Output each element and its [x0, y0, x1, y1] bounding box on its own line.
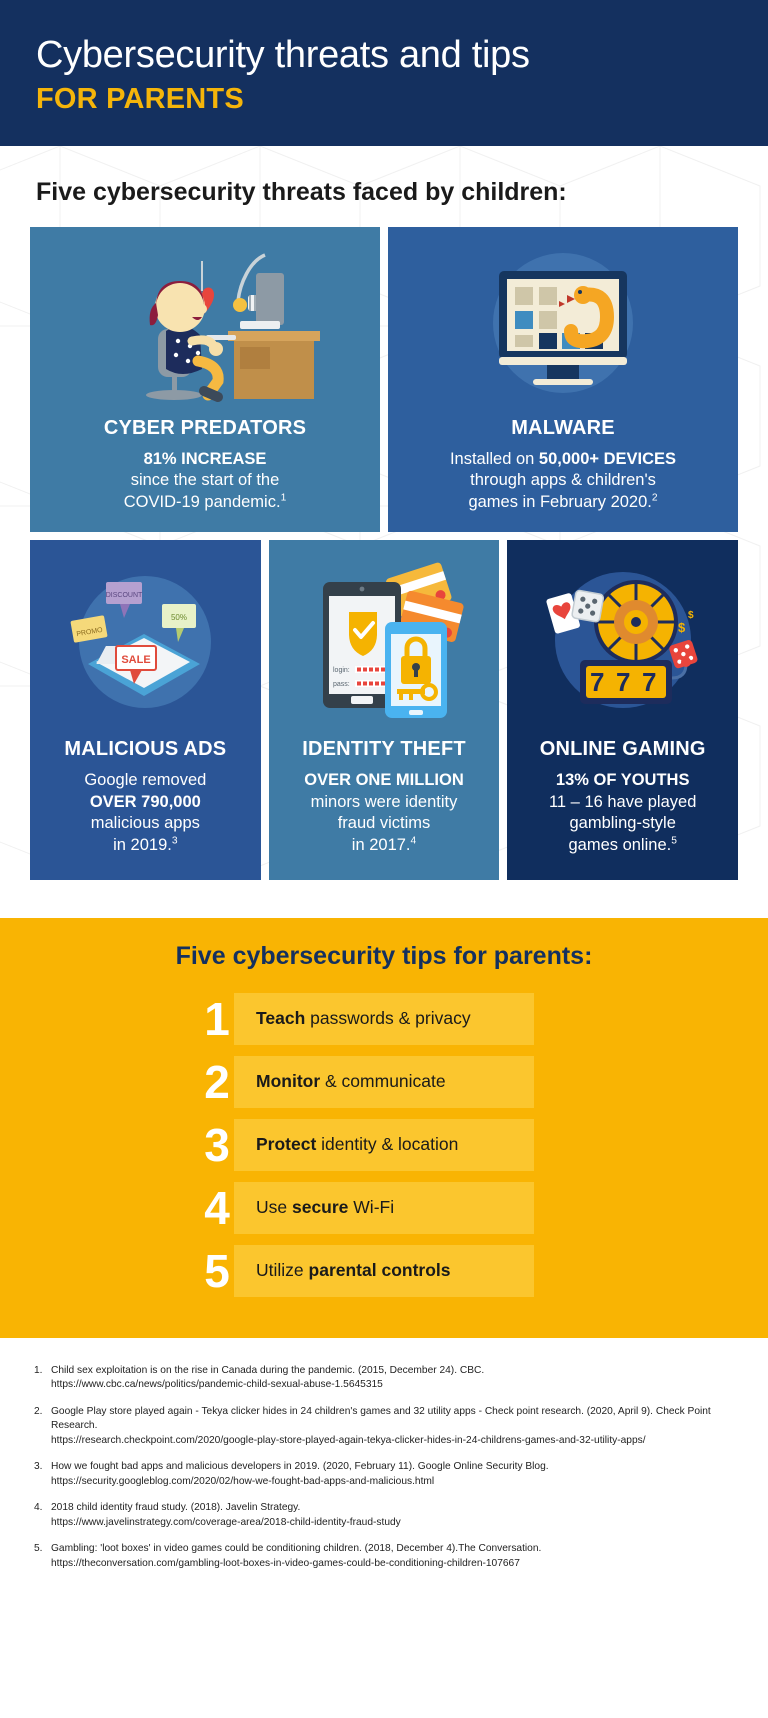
- phone-login-shield-credit-cards-icon: login: pass:: [279, 554, 490, 732]
- tips-section: Five cybersecurity tips for parents: 1 T…: [0, 918, 768, 1338]
- card-line-2: since the start of the: [131, 471, 280, 489]
- card-body: OVER ONE MILLION minors were identity fr…: [279, 770, 490, 857]
- card-line-3: games in February 2020.: [468, 493, 651, 511]
- svg-text:7: 7: [642, 667, 656, 697]
- tip-keyword: Monitor: [256, 1071, 320, 1091]
- tip-pre: Use: [256, 1197, 292, 1217]
- card-stat: 13% OF YOUTHS: [556, 771, 690, 789]
- footnote-ref: 4: [411, 836, 417, 847]
- footnote-item: 2. Google Play store played again - Teky…: [34, 1405, 734, 1448]
- tip-number: 1: [200, 996, 234, 1042]
- tip-number: 2: [200, 1059, 234, 1105]
- footnote-item: 3. How we fought bad apps and malicious …: [34, 1460, 734, 1489]
- tip-number: 4: [200, 1185, 234, 1231]
- footnote-number: 4.: [34, 1501, 51, 1530]
- card-title: CYBER PREDATORS: [40, 417, 370, 440]
- footnote-body: Google Play store played again - Tekya c…: [51, 1405, 734, 1448]
- tip-keyword: Protect: [256, 1134, 316, 1154]
- footnote-url[interactable]: https://www.javelinstrategy.com/coverage…: [51, 1516, 734, 1530]
- tip-rest: passwords & privacy: [305, 1008, 470, 1028]
- tip-item-4[interactable]: 4 Use secure Wi-Fi: [234, 1182, 534, 1234]
- card-body: Installed on 50,000+ DEVICES through app…: [398, 449, 728, 514]
- footnote-url[interactable]: https://theconversation.com/gambling-loo…: [51, 1557, 734, 1571]
- card-body: 13% OF YOUTHS 11 – 16 have played gambli…: [517, 770, 728, 857]
- tip-text: Protect identity & location: [256, 1134, 458, 1155]
- page-header: Cybersecurity threats and tips FOR PAREN…: [0, 0, 768, 146]
- footnotes-section: 1. Child sex exploitation is on the rise…: [0, 1338, 768, 1603]
- card-line-1: Google removed: [84, 771, 206, 789]
- card-line-3: fraud victims: [338, 814, 431, 832]
- infographic-page: Cybersecurity threats and tips FOR PAREN…: [0, 0, 768, 1718]
- card-line-3: COVID-19 pandemic.: [124, 493, 281, 511]
- tip-keyword: secure: [292, 1197, 348, 1217]
- card-line-4: in 2019.: [113, 836, 172, 854]
- svg-text:$: $: [678, 620, 686, 635]
- tip-bar: Monitor & communicate: [234, 1056, 534, 1108]
- tip-bar: Use secure Wi-Fi: [234, 1182, 534, 1234]
- girl-at-computer-with-fishing-hook-icon: [40, 241, 370, 411]
- svg-text:$: $: [688, 610, 694, 621]
- footnote-item: 4. 2018 child identity fraud study. (201…: [34, 1501, 734, 1530]
- tip-keyword: Teach: [256, 1008, 305, 1028]
- footnote-ref: 1: [281, 493, 287, 504]
- tip-rest: identity & location: [316, 1134, 458, 1154]
- slot-machine-dice-cards-icon: $ $ 7 7 7: [517, 554, 728, 732]
- tip-bar: Teach passwords & privacy: [234, 993, 534, 1045]
- tip-keyword: parental controls: [309, 1260, 451, 1280]
- footnote-text: How we fought bad apps and malicious dev…: [51, 1461, 549, 1472]
- tablet-with-sale-ads-icon: DISCOUNT PROMO 50%: [40, 554, 251, 732]
- footnote-number: 2.: [34, 1405, 51, 1448]
- footnote-text: 2018 child identity fraud study. (2018).…: [51, 1502, 300, 1513]
- tip-text: Monitor & communicate: [256, 1071, 446, 1092]
- tip-pre: Utilize: [256, 1260, 309, 1280]
- footnote-url[interactable]: https://www.cbc.ca/news/politics/pandemi…: [51, 1378, 734, 1392]
- threat-cards-row-1: CYBER PREDATORS 81% INCREASE since the s…: [30, 227, 738, 532]
- footnote-url[interactable]: https://research.checkpoint.com/2020/goo…: [51, 1434, 734, 1448]
- card-line-2: through apps & children's: [470, 471, 656, 489]
- svg-text:7: 7: [616, 667, 630, 697]
- footnote-body: Gambling: 'loot boxes' in video games co…: [51, 1542, 734, 1571]
- page-subtitle: FOR PARENTS: [36, 83, 732, 116]
- tips-heading: Five cybersecurity tips for parents:: [0, 942, 768, 971]
- card-body: 81% INCREASE since the start of the COVI…: [40, 449, 370, 514]
- card-line-3: gambling-style: [569, 814, 675, 832]
- tip-item-2[interactable]: 2 Monitor & communicate: [234, 1056, 534, 1108]
- footnote-item: 5. Gambling: 'loot boxes' in video games…: [34, 1542, 734, 1571]
- tip-item-3[interactable]: 3 Protect identity & location: [234, 1119, 534, 1171]
- tip-bar: Utilize parental controls: [234, 1245, 534, 1297]
- tip-item-1[interactable]: 1 Teach passwords & privacy: [234, 993, 534, 1045]
- threat-cards-row-2: DISCOUNT PROMO 50%: [30, 540, 738, 880]
- svg-text:DISCOUNT: DISCOUNT: [106, 592, 143, 599]
- card-line-3: malicious apps: [91, 814, 200, 832]
- monitor-with-worm-icon: [398, 241, 728, 411]
- threat-card-online-gaming: $ $ 7 7 7 ONLI: [507, 540, 738, 880]
- footnote-ref: 2: [652, 493, 658, 504]
- tip-bar: Protect identity & location: [234, 1119, 534, 1171]
- svg-text:SALE: SALE: [122, 654, 151, 666]
- card-title: ONLINE GAMING: [517, 738, 728, 761]
- footnote-url[interactable]: https://security.googleblog.com/2020/02/…: [51, 1475, 734, 1489]
- footnote-body: How we fought bad apps and malicious dev…: [51, 1460, 734, 1489]
- svg-text:login:: login:: [333, 667, 350, 674]
- card-body: Google removed OVER 790,000 malicious ap…: [40, 770, 251, 857]
- footnote-item: 1. Child sex exploitation is on the rise…: [34, 1364, 734, 1393]
- tip-number: 3: [200, 1122, 234, 1168]
- card-title: MALWARE: [398, 417, 728, 440]
- footnote-number: 1.: [34, 1364, 51, 1393]
- card-title: MALICIOUS ADS: [40, 738, 251, 761]
- threat-card-identity-theft: login: pass:: [269, 540, 500, 880]
- tip-rest: Wi-Fi: [348, 1197, 394, 1217]
- footnote-ref: 5: [671, 836, 677, 847]
- card-stat: 81% INCREASE: [144, 450, 267, 468]
- footnote-number: 5.: [34, 1542, 51, 1571]
- footnote-body: 2018 child identity fraud study. (2018).…: [51, 1501, 734, 1530]
- threat-card-malicious-ads: DISCOUNT PROMO 50%: [30, 540, 261, 880]
- svg-text:7: 7: [590, 667, 604, 697]
- tip-text: Utilize parental controls: [256, 1260, 451, 1281]
- card-line-2: minors were identity: [311, 793, 458, 811]
- threat-card-malware: MALWARE Installed on 50,000+ DEVICES thr…: [388, 227, 738, 532]
- footnote-text: Google Play store played again - Tekya c…: [51, 1406, 711, 1431]
- footnote-body: Child sex exploitation is on the rise in…: [51, 1364, 734, 1393]
- card-stat: OVER ONE MILLION: [304, 771, 464, 789]
- card-line-1: Installed on 50,000+ DEVICES: [450, 450, 676, 468]
- card-line-4: in 2017.: [352, 836, 411, 854]
- card-line-4: games online.: [568, 836, 671, 854]
- tip-item-5[interactable]: 5 Utilize parental controls: [234, 1245, 534, 1297]
- svg-text:pass:: pass:: [333, 681, 350, 688]
- svg-text:50%: 50%: [171, 613, 187, 622]
- footnote-text: Child sex exploitation is on the rise in…: [51, 1365, 484, 1376]
- page-title: Cybersecurity threats and tips: [36, 34, 732, 77]
- tip-text: Use secure Wi-Fi: [256, 1197, 394, 1218]
- card-title: IDENTITY THEFT: [279, 738, 490, 761]
- card-stat: OVER 790,000: [90, 793, 201, 811]
- threats-section: Five cybersecurity threats faced by chil…: [0, 146, 768, 918]
- card-line-2: 11 – 16 have played: [549, 793, 696, 811]
- footnote-number: 3.: [34, 1460, 51, 1489]
- tip-rest: & communicate: [320, 1071, 445, 1091]
- footnote-ref: 3: [172, 836, 178, 847]
- threat-card-cyber-predators: CYBER PREDATORS 81% INCREASE since the s…: [30, 227, 380, 532]
- tip-text: Teach passwords & privacy: [256, 1008, 471, 1029]
- tip-number: 5: [200, 1248, 234, 1294]
- threats-heading: Five cybersecurity threats faced by chil…: [36, 178, 738, 207]
- footnote-text: Gambling: 'loot boxes' in video games co…: [51, 1543, 541, 1554]
